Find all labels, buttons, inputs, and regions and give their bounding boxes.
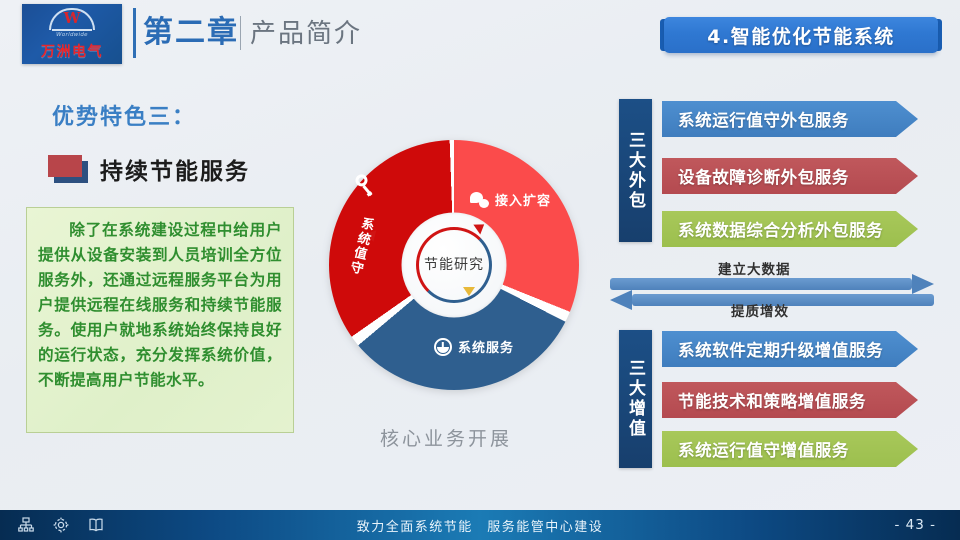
page-title: 产品简介 [250, 16, 362, 52]
description-text: 除了在系统建设过程中给用户提供从设备安装到人员培训全方位服务外，还通过远程服务平… [38, 218, 282, 393]
square-badge-icon [48, 155, 88, 183]
chevron-label-outsourcing-0: 系统运行值守外包服务 [678, 107, 849, 131]
group-label-value-added: 三大增值 [619, 330, 652, 468]
company-logo: W Worldwide 万洲电气 [22, 4, 122, 64]
logo-latin-text: Worldwide [56, 32, 88, 38]
chapter-title: 第二章 [143, 14, 239, 52]
group-label-outsourcing: 三大外包 [619, 99, 652, 242]
chevron-outsourcing-0[interactable]: 系统运行值守外包服务 [662, 101, 918, 137]
footer-slogan: 致力全面系统节能 服务能管中心建设 [0, 516, 960, 535]
logo-letter: W [49, 11, 95, 26]
banner-title: 4.智能优化节能系统 [707, 22, 894, 49]
donut-segment-access-expansion: 接入扩容 [470, 190, 551, 209]
feature-title: 优势特色三： [52, 99, 196, 131]
chevron-label-outsourcing-1: 设备故障诊断外包服务 [678, 164, 849, 188]
arrow-caption-quality-efficiency: 提质增效 [731, 300, 789, 320]
core-business-donut-chart: 节能研究 接入扩容 系统服务 系统值守 [329, 140, 579, 390]
donut-chart-caption: 核心业务开展 [380, 424, 512, 451]
donut-segment-system-service: 系统服务 [434, 337, 514, 356]
description-box: 除了在系统建设过程中给用户提供从设备安装到人员培训全方位服务外，还通过远程服务平… [26, 207, 294, 433]
chevron-outsourcing-1[interactable]: 设备故障诊断外包服务 [662, 158, 918, 194]
chevron-value-added-2[interactable]: 系统运行值守增值服务 [662, 431, 918, 467]
donut-segment-label-0: 接入扩容 [495, 190, 551, 209]
chevron-label-outsourcing-2: 系统数据综合分析外包服务 [678, 217, 883, 241]
cycle-arrowhead-bottom-icon [463, 287, 475, 296]
slide-footer: 致力全面系统节能 服务能管中心建设 - 43 - [0, 510, 960, 540]
logo-company-name: 万洲电气 [41, 41, 103, 61]
headset-icon [434, 338, 452, 356]
slide-canvas: W Worldwide 万洲电气 第二章 产品简介 4.智能优化节能系统 优势特… [0, 0, 960, 540]
banner-plate: 4.智能优化节能系统 [664, 17, 938, 53]
donut-center-label: 节能研究 [424, 257, 484, 273]
chevron-label-value-added-1: 节能技术和策略增值服务 [678, 388, 866, 412]
logo-emblem-icon: W [49, 8, 95, 31]
page-number: - 43 - [894, 517, 936, 533]
section-banner: 4.智能优化节能系统 [660, 17, 942, 53]
header-accent-bar [133, 8, 136, 58]
chevron-value-added-0[interactable]: 系统软件定期升级增值服务 [662, 331, 918, 367]
chevron-value-added-1[interactable]: 节能技术和策略增值服务 [662, 382, 918, 418]
donut-segment-label-1: 系统服务 [458, 337, 514, 356]
chevron-label-value-added-0: 系统软件定期升级增值服务 [678, 337, 883, 361]
header-separator [240, 16, 241, 50]
chevron-label-value-added-2: 系统运行值守增值服务 [678, 437, 849, 461]
chat-bubble-icon [470, 192, 489, 208]
feature-subtitle: 持续节能服务 [100, 152, 250, 186]
chevron-outsourcing-2[interactable]: 系统数据综合分析外包服务 [662, 211, 918, 247]
